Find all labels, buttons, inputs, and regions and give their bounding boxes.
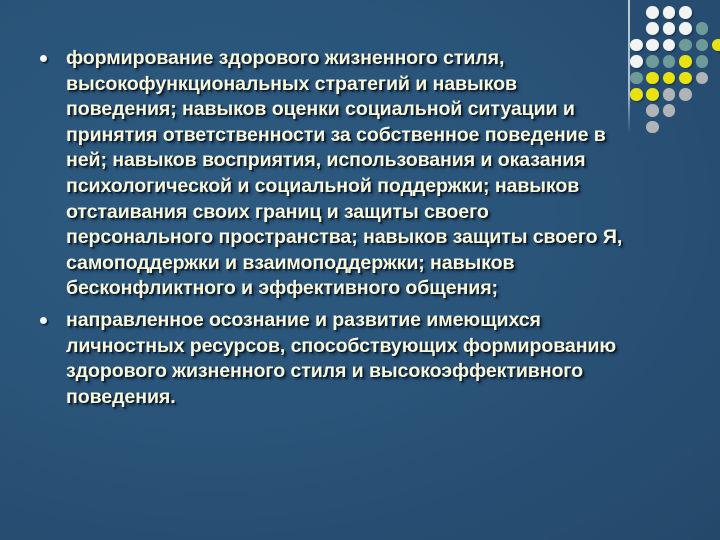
list-item: направленное осознание и развитие имеющи…	[28, 308, 628, 410]
slide-canvas: формирование здорового жизненного стиля,…	[0, 0, 720, 540]
deco-dot-yellow	[663, 72, 676, 85]
deco-dot-white	[679, 22, 692, 35]
deco-dot-teal	[696, 55, 709, 68]
decorative-dot-grid	[628, 0, 720, 150]
deco-dot-white	[646, 6, 659, 19]
deco-dot-white	[663, 22, 676, 35]
list-item-text: направленное осознание и развитие имеющи…	[66, 308, 628, 410]
deco-dot-gray	[646, 121, 659, 134]
deco-dot-teal	[630, 72, 643, 85]
deco-dot-teal	[663, 55, 676, 68]
deco-dot-yellow	[679, 55, 692, 68]
deco-dot-teal	[679, 39, 692, 52]
list-item: формирование здорового жизненного стиля,…	[28, 46, 628, 302]
deco-dot-teal	[696, 22, 709, 35]
list-item-text: формирование здорового жизненного стиля,…	[66, 46, 628, 302]
deco-dot-gray	[663, 104, 676, 117]
deco-dot-teal	[696, 39, 709, 52]
vertical-divider-line	[628, 0, 630, 133]
disc-bullet-icon	[40, 317, 47, 324]
deco-dot-yellow	[679, 72, 692, 85]
deco-dot-white	[663, 6, 676, 19]
deco-dot-gray	[696, 72, 709, 85]
deco-dot-white	[646, 22, 659, 35]
deco-dot-white	[646, 39, 659, 52]
deco-dot-gray	[646, 104, 659, 117]
deco-dot-white	[663, 39, 676, 52]
deco-dot-yellow	[646, 88, 659, 101]
deco-dot-white	[630, 39, 643, 52]
deco-dot-yellow	[646, 72, 659, 85]
deco-dot-white	[679, 6, 692, 19]
deco-dot-gray	[679, 88, 692, 101]
deco-dot-yellow	[712, 39, 720, 52]
deco-dot-teal	[646, 55, 659, 68]
deco-dot-white	[630, 55, 643, 68]
disc-bullet-icon	[40, 55, 47, 62]
deco-dot-yellow	[630, 88, 643, 101]
deco-dot-gray	[663, 88, 676, 101]
bullet-list: формирование здорового жизненного стиля,…	[28, 46, 628, 410]
slide-content-body: формирование здорового жизненного стиля,…	[28, 46, 628, 416]
